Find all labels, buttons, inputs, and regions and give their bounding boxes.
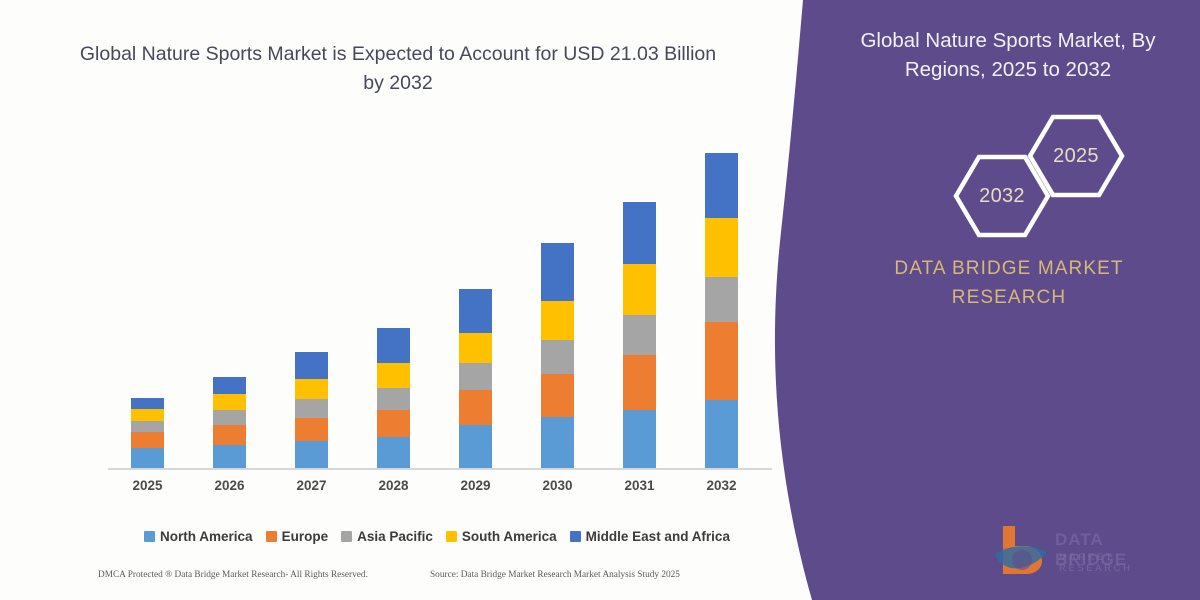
x-axis-tick-labels: 20252026202720282029203020312032 <box>110 478 770 500</box>
bar-column-2026[interactable] <box>213 377 246 470</box>
bar-segment <box>295 399 328 418</box>
x-tick-2027: 2027 <box>282 478 342 493</box>
bar-segment <box>295 379 328 399</box>
legend-item-asia-pacific[interactable]: Asia Pacific <box>341 529 433 544</box>
chart-title: Global Nature Sports Market is Expected … <box>78 40 718 99</box>
bar-segment <box>213 410 246 425</box>
bar-segment <box>705 277 738 322</box>
bar-segment <box>623 264 656 315</box>
bar-segment <box>459 333 492 363</box>
bar-segment <box>459 363 492 390</box>
chart-legend: North AmericaEuropeAsia PacificSouth Ame… <box>112 529 762 544</box>
hexagon-2025: 2025 <box>1026 112 1126 200</box>
bar-segment <box>541 417 574 470</box>
dbmr-logo-subtext: MARKET RESEARCH <box>1059 552 1174 574</box>
x-tick-2031: 2031 <box>610 478 670 493</box>
bar-column-2028[interactable] <box>377 328 410 470</box>
brand-name: DATA BRIDGE MARKET RESEARCH <box>836 255 1182 312</box>
bar-segment <box>213 445 246 470</box>
legend-label: Europe <box>282 529 329 544</box>
bar-segment <box>131 421 164 432</box>
footer-copyright: DMCA Protected ® Data Bridge Market Rese… <box>98 570 368 580</box>
bar-column-2025[interactable] <box>131 398 164 470</box>
bar-segment <box>377 437 410 470</box>
footer-source: Source: Data Bridge Market Research Mark… <box>430 570 680 580</box>
hexagon-2025-label: 2025 <box>1026 112 1126 200</box>
bar-column-2029[interactable] <box>459 289 492 470</box>
bar-segment <box>377 328 410 363</box>
legend-label: North America <box>160 529 253 544</box>
legend-swatch-icon <box>446 531 457 542</box>
bar-segment <box>131 409 164 421</box>
hexagon-group: 2032 2025 <box>930 112 1170 247</box>
legend-item-europe[interactable]: Europe <box>266 529 329 544</box>
bar-segment <box>459 425 492 470</box>
bar-column-2032[interactable] <box>705 153 738 470</box>
bar-segment <box>213 394 246 410</box>
bar-segment <box>377 410 410 437</box>
bar-segment <box>623 410 656 470</box>
x-axis-line <box>108 468 772 470</box>
legend-label: South America <box>462 529 557 544</box>
bar-segment <box>705 153 738 218</box>
bar-segment <box>541 243 574 301</box>
legend-swatch-icon <box>266 531 277 542</box>
bar-segment <box>131 432 164 448</box>
bar-segment <box>213 425 246 445</box>
bar-segment <box>459 390 492 425</box>
x-tick-2030: 2030 <box>528 478 588 493</box>
dbmr-b-logo-icon <box>989 520 1059 576</box>
legend-swatch-icon <box>341 531 352 542</box>
bar-segment <box>541 374 574 417</box>
bar-segment <box>623 315 656 355</box>
bar-segment <box>541 301 574 340</box>
bar-segment <box>131 398 164 409</box>
legend-item-middle-east-and-africa[interactable]: Middle East and Africa <box>570 529 730 544</box>
legend-swatch-icon <box>570 531 581 542</box>
bar-column-2031[interactable] <box>623 202 656 470</box>
x-tick-2028: 2028 <box>364 478 424 493</box>
bar-segment <box>377 363 410 388</box>
bar-segment <box>295 418 328 441</box>
x-tick-2029: 2029 <box>446 478 506 493</box>
bar-segment <box>131 448 164 470</box>
bar-segment <box>295 352 328 379</box>
bar-segment <box>377 388 410 410</box>
bar-segment <box>705 322 738 400</box>
legend-item-south-america[interactable]: South America <box>446 529 557 544</box>
bar-column-2027[interactable] <box>295 352 328 470</box>
x-tick-2025: 2025 <box>118 478 178 493</box>
legend-label: Asia Pacific <box>357 529 433 544</box>
brand-panel-title: Global Nature Sports Market, By Regions,… <box>832 26 1184 84</box>
bar-chart-plot-area <box>110 140 770 470</box>
bar-segment <box>623 202 656 264</box>
legend-swatch-icon <box>144 531 155 542</box>
bar-segment <box>295 441 328 470</box>
brand-panel-content: Global Nature Sports Market, By Regions,… <box>810 0 1200 600</box>
x-tick-2032: 2032 <box>692 478 752 493</box>
bar-segment <box>623 355 656 410</box>
dbmr-logo: DATA BRIDGE MARKET RESEARCH <box>989 520 1174 582</box>
chart-panel: Global Nature Sports Market is Expected … <box>0 0 800 600</box>
x-tick-2026: 2026 <box>200 478 260 493</box>
legend-item-north-america[interactable]: North America <box>144 529 253 544</box>
bar-segment <box>705 218 738 277</box>
bar-segment <box>459 289 492 333</box>
bar-segment <box>541 340 574 374</box>
legend-label: Middle East and Africa <box>586 529 730 544</box>
bar-segment <box>705 400 738 470</box>
bar-segment <box>213 377 246 394</box>
bar-column-2030[interactable] <box>541 243 574 470</box>
infographic-root: Global Nature Sports Market is Expected … <box>0 0 1200 600</box>
